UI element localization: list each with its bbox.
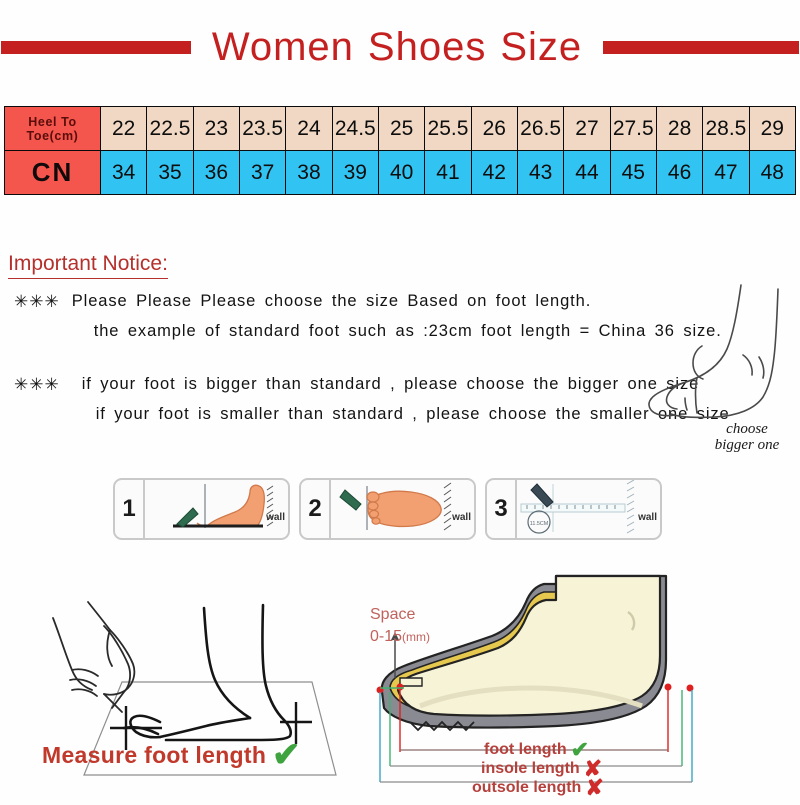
cn-cell: 42: [471, 151, 517, 195]
cm-cell: 28.5: [703, 107, 749, 151]
cm-cell: 27.5: [610, 107, 656, 151]
title-rule-left: [1, 41, 191, 54]
notice-bullet-stars: ✳✳✳: [14, 375, 60, 395]
notice-line: the example of standard foot such as :23…: [94, 322, 722, 341]
cn-cell: 47: [703, 151, 749, 195]
table-row-cn: CN 34 35 36 37 38 39 40 41 42 43 44 45 4…: [5, 151, 796, 195]
wall-label: wall: [638, 512, 657, 523]
space-label-line-1: Space: [370, 604, 430, 626]
cn-cell: 34: [101, 151, 147, 195]
step-2-illustration: wall: [331, 480, 474, 538]
cm-cell: 26.5: [517, 107, 563, 151]
page-title-text: WomenShoesSize: [205, 25, 589, 70]
title-word-2: Shoes: [368, 25, 486, 69]
notice-line: if your foot is smaller than standard , …: [96, 405, 730, 424]
cm-cell: 22: [101, 107, 147, 151]
page-title: WomenShoesSize: [0, 22, 800, 72]
measure-foot-caption: Measure foot length: [42, 742, 266, 769]
cm-cell: 28: [656, 107, 702, 151]
sketch-caption-line-1: choose: [692, 422, 800, 438]
cm-cell: 25: [378, 107, 424, 151]
notice-line: if your foot is bigger than standard , p…: [82, 375, 730, 394]
title-rule-right: [603, 41, 799, 54]
cm-cell: 24: [286, 107, 332, 151]
cn-cell: 43: [517, 151, 563, 195]
wall-label: wall: [266, 512, 285, 523]
cn-cell: 48: [749, 151, 795, 195]
cn-cell: 39: [332, 151, 378, 195]
cm-cell: 23.5: [239, 107, 285, 151]
check-mark-icon: ✔: [272, 735, 301, 775]
notice-block-1: ✳✳✳ Please Please Please choose the size…: [14, 292, 722, 341]
cn-cell: 45: [610, 151, 656, 195]
cm-cell: 26: [471, 107, 517, 151]
cn-cell: 46: [656, 151, 702, 195]
sketch-caption-line-2: bigger one: [692, 438, 800, 454]
cn-cell: 37: [239, 151, 285, 195]
step-number: 1: [115, 480, 145, 538]
cn-cell: 44: [564, 151, 610, 195]
step-number: 2: [301, 480, 331, 538]
cm-cell: 22.5: [147, 107, 193, 151]
title-word-3: Size: [500, 25, 582, 69]
legend-label: insole length: [481, 760, 580, 778]
cn-cell: 41: [425, 151, 471, 195]
legend-row-outsole-length: outsole length ✘: [472, 778, 604, 797]
title-word-1: Women: [212, 25, 354, 69]
cn-cell: 38: [286, 151, 332, 195]
step-3-illustration: 11.5CM wall: [517, 480, 660, 538]
space-label-unit: (mm): [402, 630, 430, 644]
cn-cell: 36: [193, 151, 239, 195]
notice-bullet-stars: ✳✳✳: [14, 292, 60, 312]
row-header-cn: CN: [5, 151, 101, 195]
table-row-heel-to-toe: Heel To Toe(cm) 22 22.5 23 23.5 24 24.5 …: [5, 107, 796, 151]
step-1-illustration: wall: [145, 480, 288, 538]
ruler-badge-text: 11.5CM: [530, 521, 549, 527]
legend-label: foot length: [484, 741, 567, 759]
cm-cell: 24.5: [332, 107, 378, 151]
cn-cell: 40: [378, 151, 424, 195]
space-label: Space 0-15(mm): [370, 604, 430, 647]
length-legend: foot length ✔ insole length ✘ outsole le…: [484, 740, 604, 797]
step-1: 1 wall: [113, 478, 290, 540]
space-label-line-2: 0-15: [370, 628, 402, 645]
measuring-steps: 1 wall 2: [113, 478, 662, 540]
cm-cell: 29: [749, 107, 795, 151]
size-conversion-table: Heel To Toe(cm) 22 22.5 23 23.5 24 24.5 …: [4, 106, 796, 195]
cm-cell: 23: [193, 107, 239, 151]
notice-block-2: ✳✳✳ if your foot is bigger than standard…: [14, 375, 730, 424]
row-header-heel-to-toe: Heel To Toe(cm): [5, 107, 101, 151]
cm-cell: 27: [564, 107, 610, 151]
cross-mark-icon: ✘: [585, 777, 603, 799]
cn-cell: 35: [147, 151, 193, 195]
wall-label: wall: [452, 512, 471, 523]
step-2: 2 wall: [299, 478, 476, 540]
notice-line: Please Please Please choose the size Bas…: [72, 292, 722, 311]
important-notice-heading: Important Notice:: [8, 252, 168, 279]
legend-label: outsole length: [472, 779, 581, 797]
cm-cell: 25.5: [425, 107, 471, 151]
step-3: 3 11.5CM: [485, 478, 662, 540]
step-number: 3: [487, 480, 517, 538]
sketch-caption: choose bigger one: [692, 422, 800, 454]
